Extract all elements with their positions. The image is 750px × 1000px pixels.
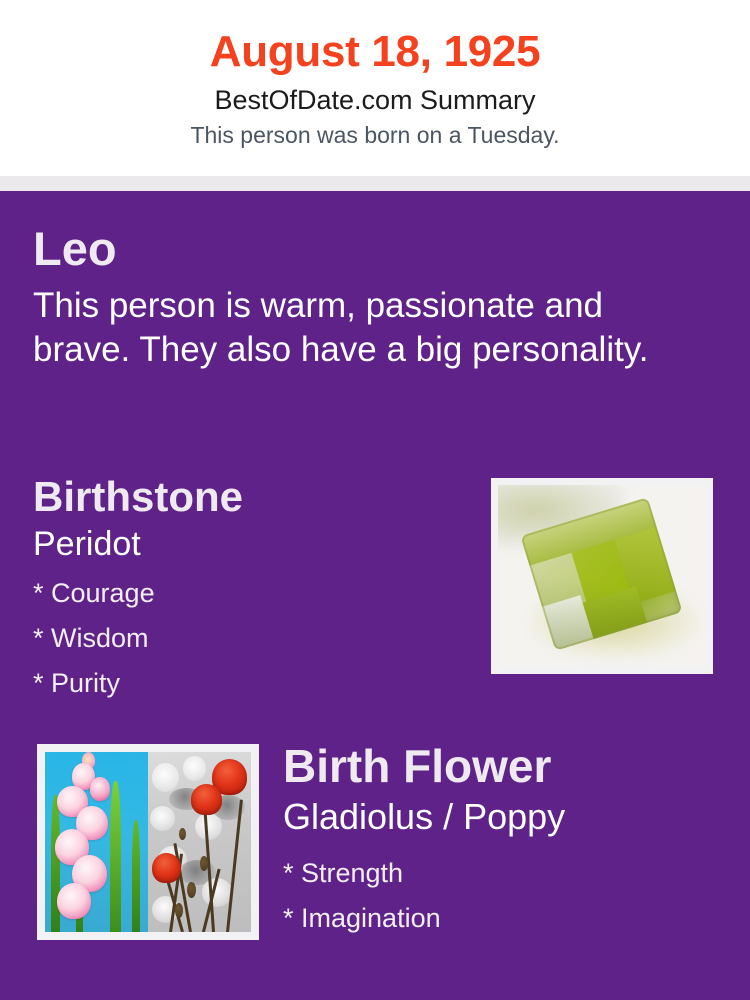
bokeh-light (150, 806, 175, 831)
bokeh-light (202, 878, 233, 907)
bokeh-light (183, 756, 206, 781)
list-item: * Imagination (283, 896, 733, 941)
gladiolus-bloom (57, 883, 91, 919)
poppy-flower-head (152, 853, 181, 884)
list-item: * Wisdom (33, 616, 463, 661)
gladiolus-photo-half (45, 752, 148, 932)
birth-flower-heading: Birth Flower (283, 739, 733, 794)
birthstone-heading: Birthstone (33, 472, 463, 522)
site-summary-label: BestOfDate.com Summary (0, 78, 750, 117)
birthstone-image-frame (491, 478, 713, 674)
plant-stalk (132, 820, 140, 932)
page-title-date: August 18, 1925 (0, 0, 750, 78)
birthstone-section: Birthstone Peridot * Courage * Wisdom * … (33, 472, 463, 706)
list-item: * Strength (283, 851, 733, 896)
poppy-bud (175, 903, 183, 917)
plant-stalk (110, 781, 121, 932)
poppy-photo-half (148, 752, 251, 932)
poppy-bud (187, 882, 196, 898)
zodiac-sign-name: Leo (33, 222, 693, 276)
gladiolus-bloom (90, 777, 110, 800)
summary-panel: Leo This person is warm, passionate and … (0, 191, 750, 1000)
birthday-summary-page: August 18, 1925 BestOfDate.com Summary T… (0, 0, 750, 1000)
birth-flower-image-frame (37, 744, 259, 940)
list-item: * Purity (33, 661, 463, 706)
header-divider (0, 176, 750, 191)
page-header: August 18, 1925 BestOfDate.com Summary T… (0, 0, 750, 176)
birthstone-name: Peridot (33, 522, 463, 565)
zodiac-description: This person is warm, passionate and brav… (33, 276, 683, 372)
birth-flower-section: Birth Flower Gladiolus / Poppy * Strengt… (283, 739, 733, 941)
zodiac-section: Leo This person is warm, passionate and … (33, 222, 693, 372)
birth-flower-name: Gladiolus / Poppy (283, 794, 733, 839)
birth-flower-trait-list: * Strength * Imagination (283, 839, 733, 941)
gladiolus-and-poppy-image (45, 752, 251, 932)
born-day-note: This person was born on a Tuesday. (0, 117, 750, 149)
poppy-flower-head (191, 784, 222, 815)
birthstone-trait-list: * Courage * Wisdom * Purity (33, 565, 463, 706)
peridot-gemstone-image (498, 485, 706, 667)
bokeh-light (152, 763, 179, 792)
poppy-bud (200, 856, 208, 870)
list-item: * Courage (33, 571, 463, 616)
poppy-bud (179, 828, 186, 841)
